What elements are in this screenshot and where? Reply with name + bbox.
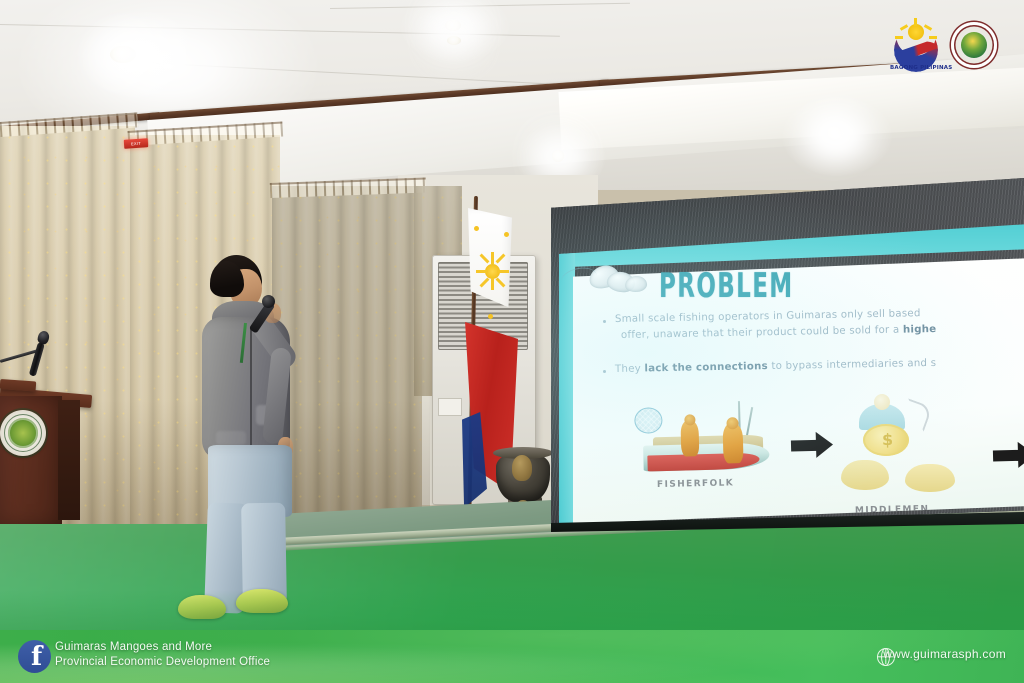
facebook-f-glyph: f: [31, 644, 43, 671]
money-bag: [905, 464, 955, 492]
fishing-net: [634, 407, 663, 434]
flag-star: [488, 314, 493, 319]
middlemen-head: [874, 394, 890, 410]
presenter: [180, 255, 340, 625]
fisherfolk-boat-illustration: [630, 400, 782, 484]
arrow-head: [1018, 441, 1024, 467]
flag-sun-ray: [476, 270, 488, 273]
presenter-shoe-front: [236, 589, 288, 613]
arrow-shaft: [791, 440, 817, 452]
exit-sign: EXIT: [124, 138, 149, 149]
led-presentation-screen: PROBLEM Small scale fishing operators in…: [551, 178, 1024, 528]
slide-body: [573, 258, 1024, 524]
slide-title: PROBLEM: [659, 266, 794, 305]
hoodie-pocket: [216, 431, 246, 445]
website-url[interactable]: www.guimarasph.com: [883, 647, 1006, 661]
coin-currency-symbol: $: [882, 430, 893, 449]
facebook-icon[interactable]: f: [18, 640, 51, 673]
podium-seal: [0, 410, 46, 456]
flag-sun-ray: [491, 278, 494, 290]
podium-seal-emblem: [8, 418, 37, 447]
stage-spotlight: [827, 126, 842, 141]
ceiling-light: [445, 20, 461, 31]
bp-caption: BAGONG PILIPINAS: [890, 65, 952, 71]
bullet-2-pre: They: [615, 363, 645, 375]
flag-sun-ray: [497, 270, 509, 273]
bp-sun-ray: [914, 18, 917, 26]
podium-side: [58, 400, 80, 520]
ceiling-light: [110, 46, 136, 63]
banner-text-block: Guimaras Mangoes and More Provincial Eco…: [55, 640, 270, 670]
bullet-marker: [603, 320, 606, 323]
fisher-figure: [680, 420, 699, 456]
boat-outrigger: [746, 407, 753, 437]
presenter-shoe-back: [178, 595, 226, 619]
flag-star: [504, 232, 509, 237]
ceiling-light: [447, 36, 461, 45]
stage-spotlight: [552, 150, 564, 162]
bullet-1-bold: highe: [903, 324, 937, 336]
slide-teal-left-strip: [559, 252, 575, 524]
bagong-pilipinas-logo: BAGONG PILIPINAS: [890, 22, 946, 74]
flow-label-fisherfolk: FISHERFOLK: [657, 478, 734, 490]
aircon-sticker: [438, 398, 462, 416]
hoodie-zipper: [250, 327, 252, 451]
bottom-branding-banner: f Guimaras Mangoes and More Provincial E…: [0, 630, 1024, 683]
facebook-page-name: Guimaras Mangoes and More: [55, 640, 270, 655]
bullet-marker: [603, 370, 606, 373]
province-of-guimaras-seal: [951, 22, 997, 68]
pot-plant: [512, 455, 532, 481]
money-bag: [841, 460, 889, 490]
slide: PROBLEM Small scale fishing operators in…: [559, 224, 1024, 524]
flow-arrow-1: [791, 431, 834, 458]
flag-sun-ray: [491, 252, 494, 264]
arrow-shaft: [993, 450, 1019, 462]
seal-emblem: [961, 32, 987, 58]
microphone-head: [262, 295, 275, 308]
arrow-head: [816, 431, 834, 457]
presentation-photo: EXIT: [0, 0, 1024, 683]
office-name: Provincial Economic Development Office: [55, 655, 270, 670]
flow-arrow-2: [993, 441, 1024, 468]
flag-star: [474, 226, 479, 231]
